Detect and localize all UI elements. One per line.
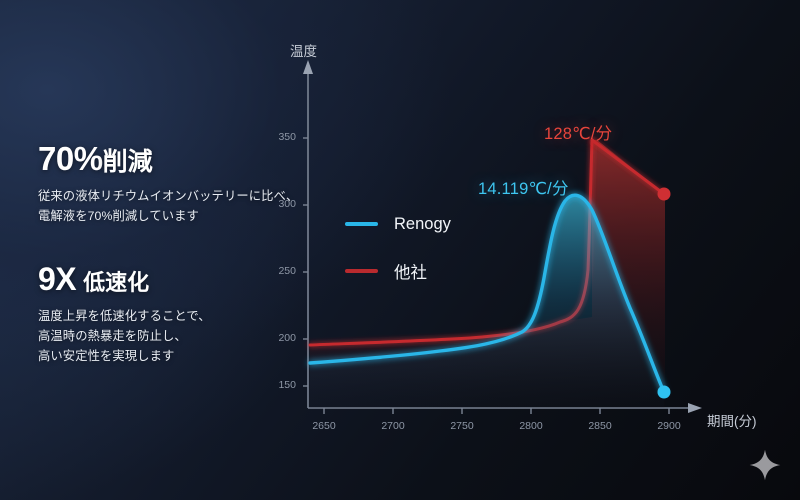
x-tick-label: 2650	[304, 420, 344, 432]
stat-description-line: 温度上昇を低速化することで、	[38, 307, 288, 327]
y-tick-label: 200	[266, 332, 296, 344]
x-tick-marks	[324, 408, 669, 414]
stat-description-line: 高い安定性を実現します	[38, 347, 288, 367]
stat-description: 温度上昇を低速化することで、 高温時の熱暴走を防止し、 高い安定性を実現します	[38, 307, 288, 367]
stat-headline: 70%削減	[38, 140, 288, 178]
series-other-endpoint	[658, 188, 671, 201]
y-tick-label: 350	[266, 131, 296, 143]
x-tick-label: 2750	[442, 420, 482, 432]
stat-description: 従来の液体リチウムイオンバッテリーに比べ、 電解液を70%削減しています	[38, 187, 288, 227]
stat-description-line: 高温時の熱暴走を防止し、	[38, 327, 288, 347]
x-tick-label: 2850	[580, 420, 620, 432]
annotation-renogy-rate: 14.119℃/分	[478, 175, 569, 199]
stat-description-line: 従来の液体リチウムイオンバッテリーに比べ、	[38, 187, 288, 207]
chart-legend: Renogy 他社	[345, 209, 451, 303]
legend-label-other: 他社	[394, 259, 427, 283]
stat-block-slowdown: 9X低速化 温度上昇を低速化することで、 高温時の熱暴走を防止し、 高い安定性を…	[38, 261, 288, 367]
stat-headline-value: 9X	[38, 261, 76, 297]
legend-swatch-other	[345, 269, 378, 273]
series-renogy-endpoint	[658, 386, 671, 399]
y-tick-label: 300	[266, 198, 296, 210]
y-axis-label: 温度	[290, 40, 317, 60]
slide-root: 70%削減 従来の液体リチウムイオンバッテリーに比べ、 電解液を70%削減してい…	[0, 0, 800, 500]
stat-block-reduction: 70%削減 従来の液体リチウムイオンバッテリーに比べ、 電解液を70%削減してい…	[38, 140, 288, 227]
stat-headline-suffix: 削減	[103, 148, 153, 176]
stat-description-line: 電解液を70%削減しています	[38, 207, 288, 227]
legend-item-renogy[interactable]: Renogy	[345, 209, 451, 239]
x-tick-label: 2700	[373, 420, 413, 432]
stat-headline-suffix: 低速化	[83, 270, 149, 295]
stat-headline-value: 70%	[38, 140, 103, 177]
annotation-other-rate: 128℃/分	[544, 120, 612, 144]
legend-swatch-renogy	[345, 222, 378, 226]
y-tick-label: 250	[266, 265, 296, 277]
x-tick-label: 2800	[511, 420, 551, 432]
y-tick-label: 150	[266, 379, 296, 391]
stats-column: 70%削減 従来の液体リチウムイオンバッテリーに比べ、 電解液を70%削減してい…	[38, 140, 288, 367]
x-axis-label: 期間(分)	[707, 410, 757, 430]
four-point-star-icon	[748, 448, 782, 482]
legend-label-renogy: Renogy	[394, 215, 451, 234]
x-tick-label: 2900	[649, 420, 689, 432]
stat-headline: 9X低速化	[38, 261, 288, 298]
legend-item-other[interactable]: 他社	[345, 256, 451, 286]
temperature-chart: 温度 期間(分) 350 300 250 200 150 2650 2700 2…	[270, 20, 800, 480]
